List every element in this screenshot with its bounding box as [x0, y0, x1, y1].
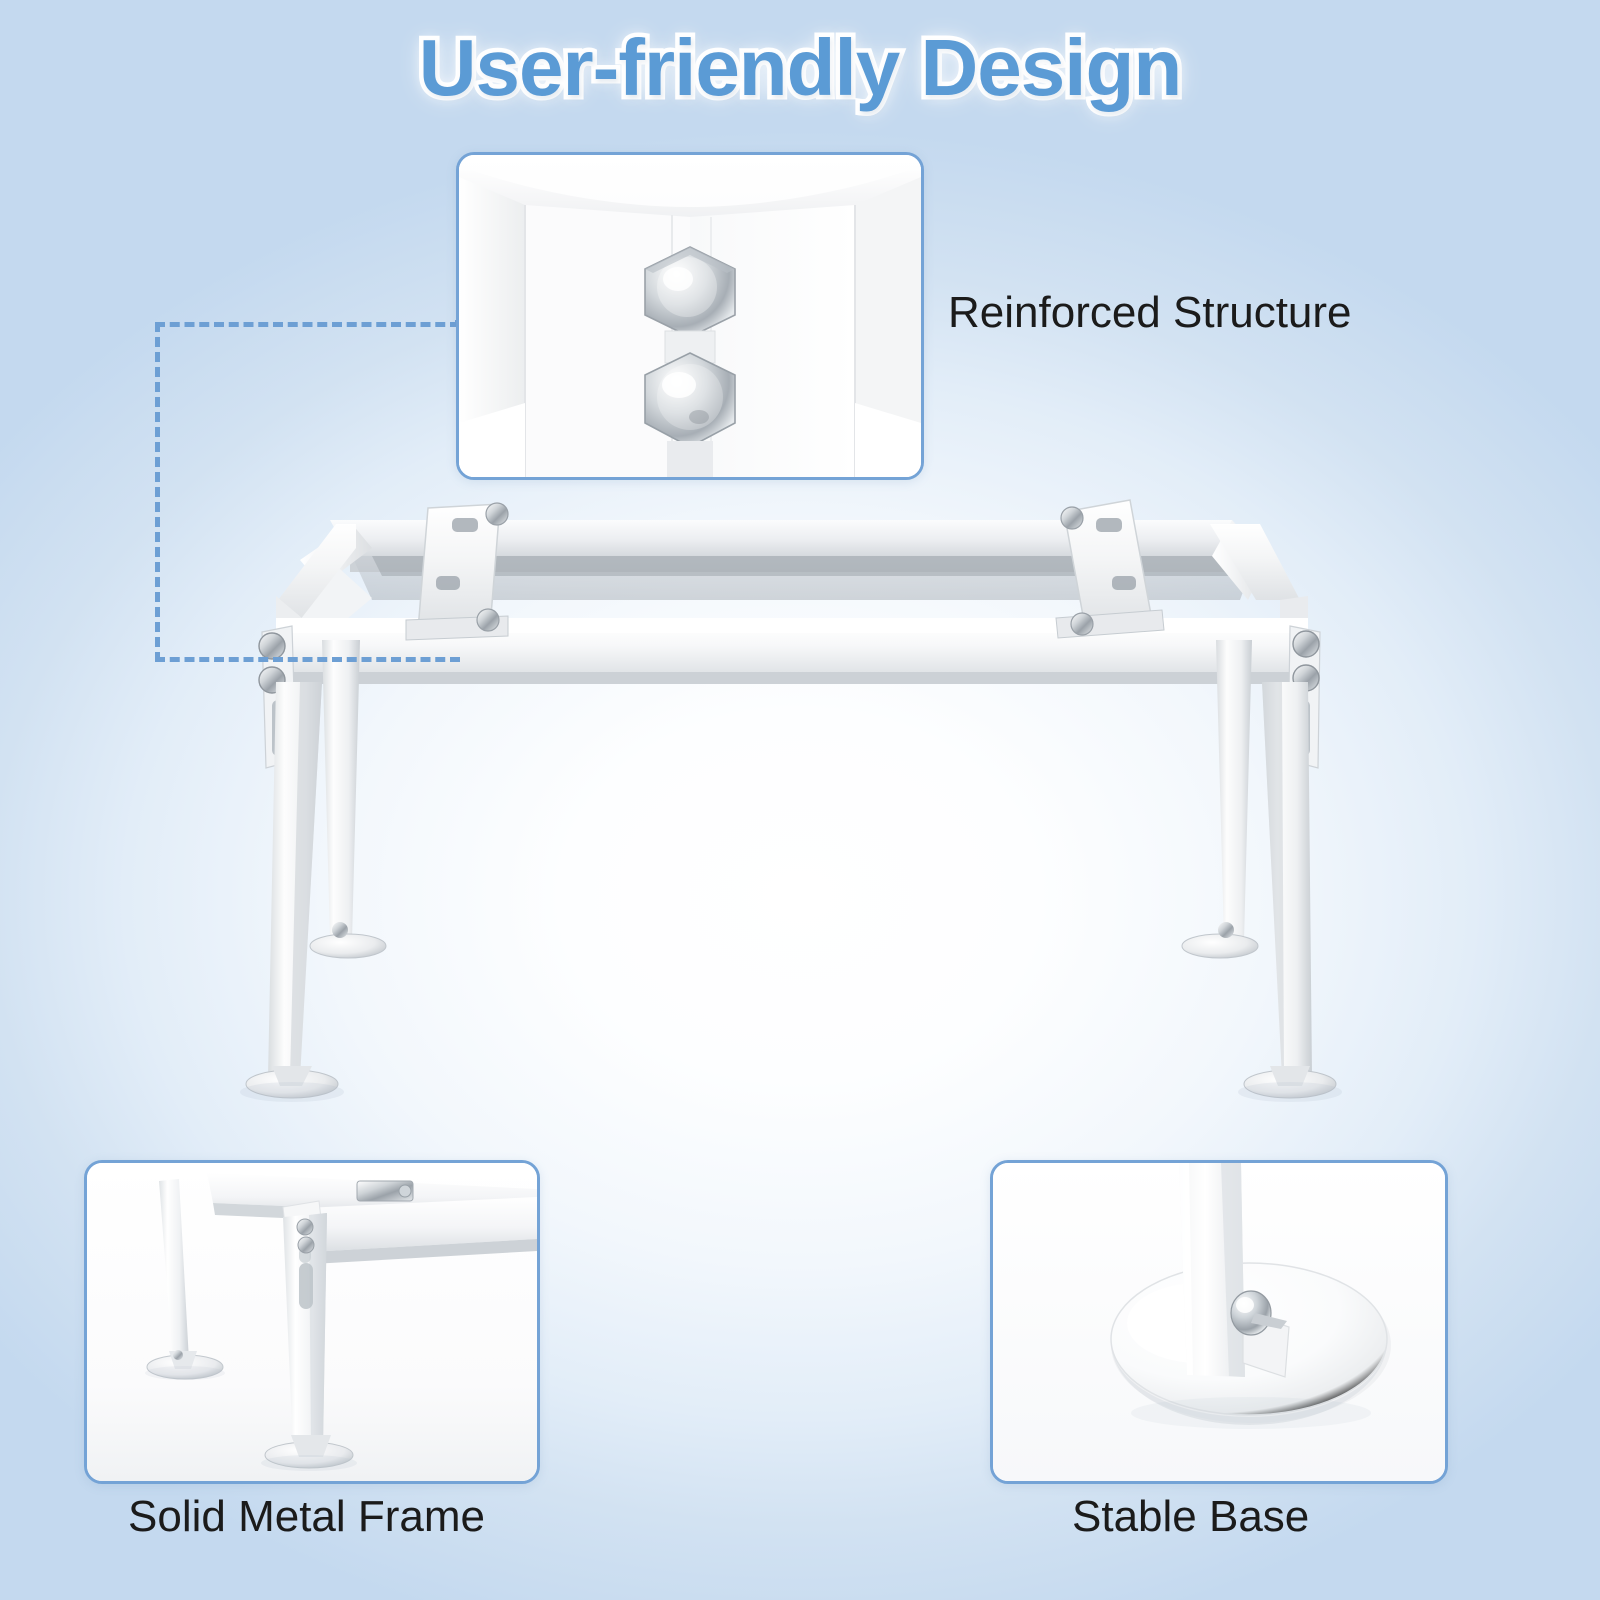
callout-label-reinforced-structure: Reinforced Structure [948, 288, 1352, 338]
callout-label-solid-metal-frame: Solid Metal Frame [128, 1492, 485, 1542]
callout-card-reinforced-structure [456, 152, 924, 480]
bolt-closeup-art [459, 155, 921, 477]
callout-card-solid-metal-frame [84, 1160, 540, 1484]
infographic-canvas: User-friendly Design [0, 0, 1600, 1600]
callout-card-stable-base [990, 1160, 1448, 1484]
leg-back-right [1182, 640, 1258, 958]
leg-post [1179, 1163, 1245, 1377]
base-closeup-art [993, 1163, 1445, 1481]
leg-front-left [246, 682, 338, 1098]
leg-front-right [1244, 682, 1336, 1098]
callout-label-stable-base: Stable Base [1072, 1492, 1309, 1542]
frame-closeup-art [87, 1163, 537, 1481]
